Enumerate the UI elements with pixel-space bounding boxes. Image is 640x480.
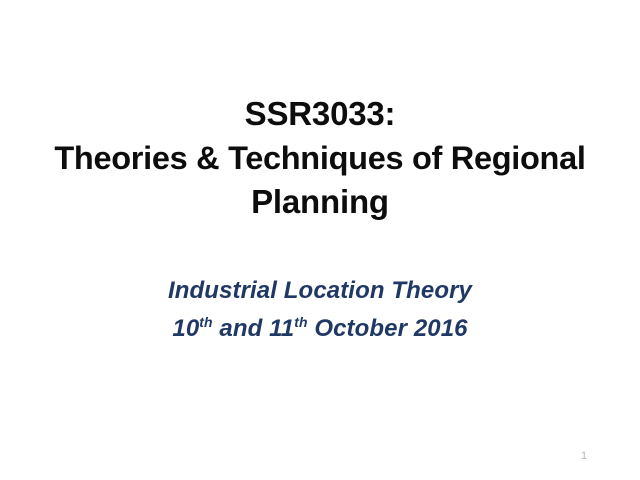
subtitle-date-ordinal-first: th [199, 314, 212, 330]
title-line-1: SSR3033: [20, 92, 620, 136]
subtitle-date-day-first: 10 [172, 315, 199, 342]
presentation-slide: SSR3033: Theories & Techniques of Region… [0, 0, 640, 480]
slide-title: SSR3033: Theories & Techniques of Region… [20, 92, 620, 224]
subtitle-date: 10th and 11th October 2016 [60, 310, 580, 348]
subtitle-date-conjunction: and 11 [213, 315, 295, 342]
title-line-3: Planning [20, 180, 620, 224]
subtitle-date-ordinal-second: th [294, 314, 307, 330]
title-line-2: Theories & Techniques of Regional [20, 136, 620, 180]
subtitle-topic: Industrial Location Theory [60, 272, 580, 310]
subtitle-date-month-year: October 2016 [308, 315, 468, 342]
slide-number: 1 [560, 449, 608, 463]
slide-subtitle: Industrial Location Theory 10th and 11th… [60, 272, 580, 348]
